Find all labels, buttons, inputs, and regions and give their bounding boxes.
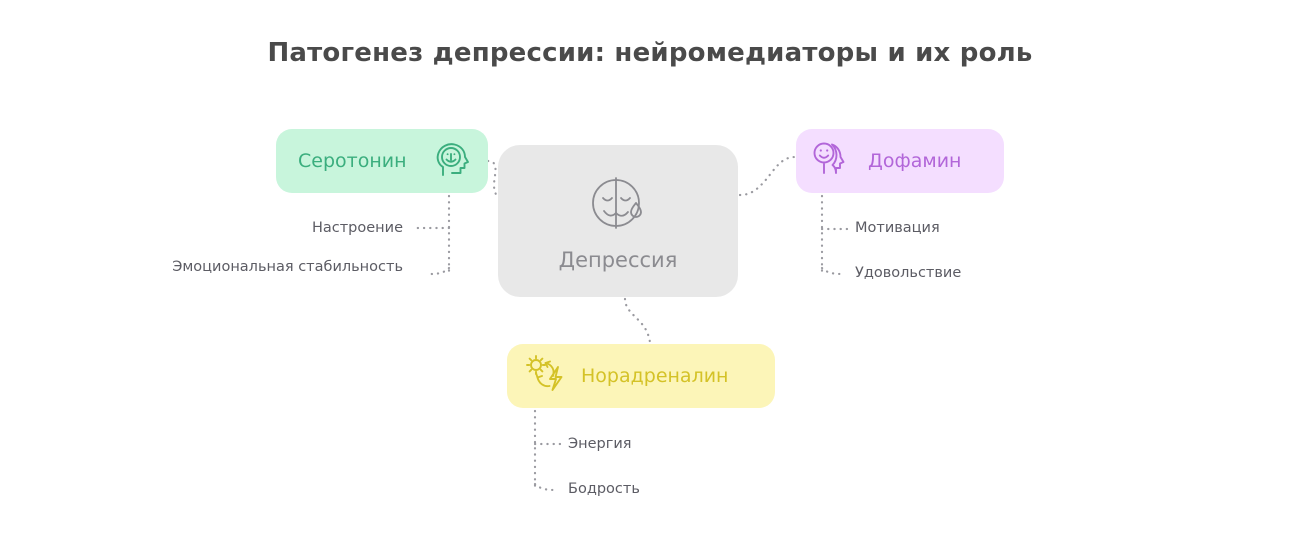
branch-node-noradrenaline-label: Норадреналин — [581, 365, 728, 387]
connector-dopamine-to-pleasure — [822, 268, 845, 274]
sub-label-energy: Энергия — [568, 436, 632, 452]
branch-node-dopamine[interactable]: Дофамин — [796, 129, 1004, 193]
central-node-label: Депрессия — [559, 248, 678, 272]
branch-node-serotonin[interactable]: Серотонин — [276, 129, 488, 193]
head-profile-smiley-icon — [812, 140, 854, 182]
central-node-depression[interactable]: Депрессия — [498, 145, 738, 297]
sun-lightning-energy-icon — [523, 353, 567, 399]
sub-label-emotional-stability: Эмоциональная стабильность — [172, 259, 403, 275]
diagram-canvas: Патогенез депрессии: нейромедиаторы и их… — [0, 0, 1300, 546]
connector-center-to-noradrenaline — [625, 299, 650, 346]
sub-label-vigor: Бодрость — [568, 481, 640, 497]
sub-label-pleasure: Удовольствие — [855, 265, 961, 281]
sub-label-motivation: Мотивация — [855, 220, 940, 236]
connector-center-to-dopamine — [740, 157, 796, 195]
split-face-sad-happy-icon — [585, 170, 651, 240]
branch-node-noradrenaline[interactable]: Норадреналин — [507, 344, 775, 408]
page-title: Патогенез депрессии: нейромедиаторы и их… — [0, 38, 1300, 68]
head-profile-face-icon — [434, 140, 470, 182]
branch-node-serotonin-label: Серотонин — [298, 150, 407, 172]
connector-noradrenaline-to-vigor — [535, 484, 558, 490]
sub-label-mood: Настроение — [312, 220, 403, 236]
connector-serotonin-to-emostab — [428, 268, 449, 274]
branch-node-dopamine-label: Дофамин — [868, 150, 961, 172]
